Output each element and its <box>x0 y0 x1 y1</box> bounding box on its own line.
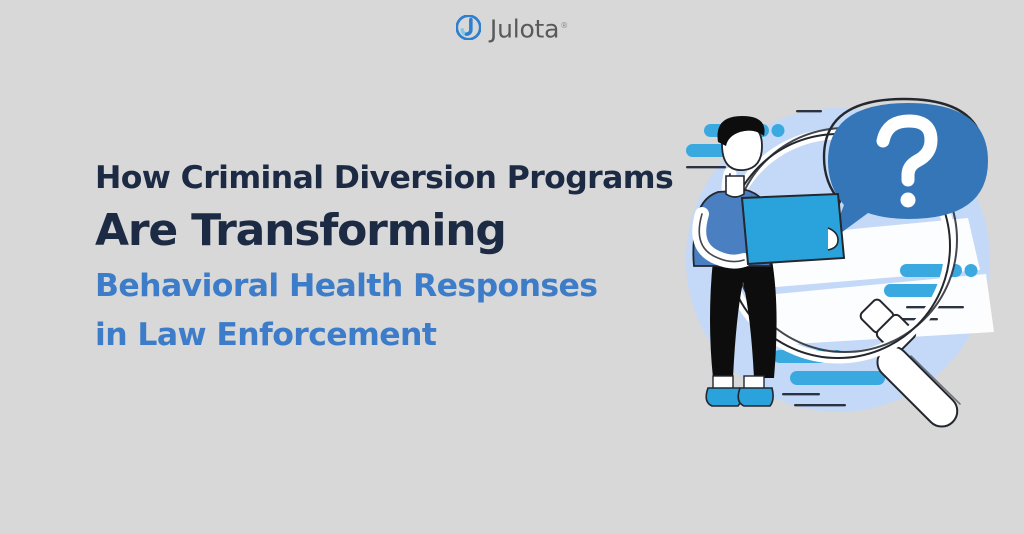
brand-name-text: Julota <box>490 14 559 43</box>
person-shoe-left <box>706 388 741 406</box>
brand-trademark: ® <box>560 21 568 30</box>
headline-line-4: in Law Enforcement <box>95 312 665 359</box>
headline-line-3: Behavioral Health Responses <box>95 260 665 312</box>
brand-logo: Julota® <box>0 13 1024 41</box>
julota-j-circle-icon <box>456 15 481 40</box>
person-shoe-right <box>738 388 773 406</box>
poster-canvas: Julota® How Criminal Diversion Programs … <box>0 0 1024 534</box>
headline-line-2: Are Transforming <box>95 201 665 260</box>
headline-line-1: How Criminal Diversion Programs <box>95 155 665 201</box>
illustration-svg <box>668 88 1012 432</box>
brand-name: Julota® <box>490 13 568 41</box>
hero-illustration <box>668 88 1012 432</box>
question-mark-dot <box>901 193 916 208</box>
page-title: How Criminal Diversion Programs Are Tran… <box>95 155 665 359</box>
